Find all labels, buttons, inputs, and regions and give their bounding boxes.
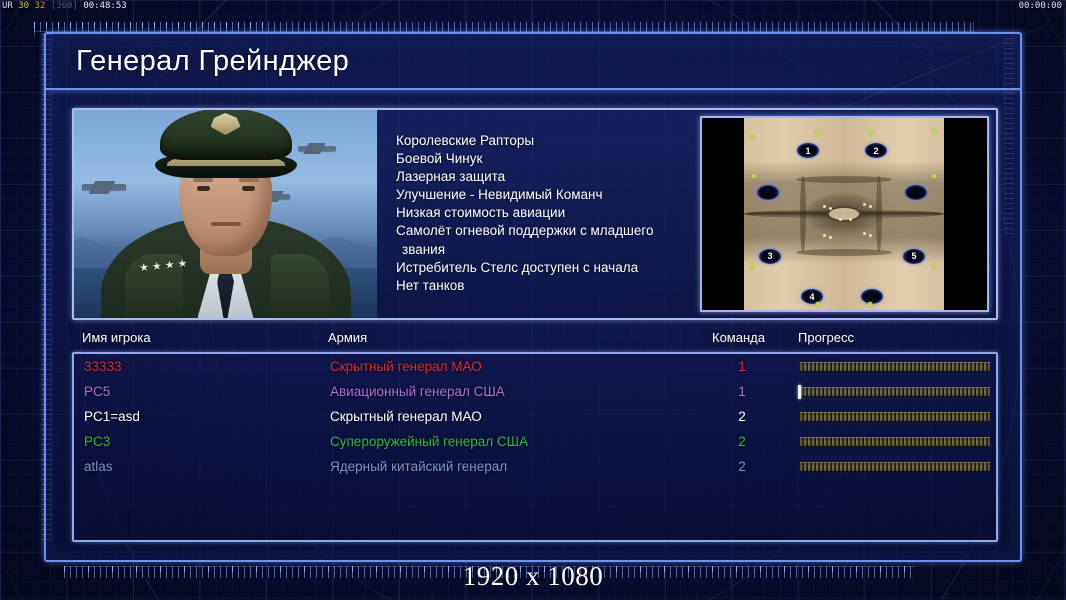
general-ability-4: Низкая стоимость авиации: [396, 204, 700, 222]
frame-corner-tl: [34, 22, 35, 36]
progress-bar: [800, 462, 990, 472]
player-team: 1: [735, 384, 749, 399]
map-preview-image: 12354: [744, 118, 944, 310]
main-panel: Генерал Грейнджер ★★★★ U.S.: [44, 32, 1022, 562]
progress-bar: [800, 362, 990, 372]
map-supply-dock-5: [932, 174, 936, 178]
player-army: Авиационный генерал США: [330, 384, 505, 399]
column-header-progress: Прогресс: [798, 330, 854, 345]
map-tech-building-2: [863, 203, 866, 206]
player-row[interactable]: atlasЯдерный китайский генерал2: [74, 454, 996, 479]
fps-debug-readout: UR 30 32 [360] 00:48:53: [2, 1, 127, 11]
map-supply-dock-7: [932, 264, 936, 268]
general-ability-1: Боевой Чинук: [396, 150, 700, 168]
frame-ruler-top-major: [34, 22, 274, 28]
portrait-eye-right: [242, 186, 255, 191]
map-start-position-5: 5: [903, 249, 925, 264]
portrait-brow-right: [239, 178, 259, 182]
bracket-value: [360]: [51, 1, 78, 11]
map-tech-building-9: [869, 234, 872, 237]
map-tech-building-0: [823, 205, 826, 208]
progress-bar: [800, 387, 990, 397]
portrait-cap: [160, 110, 292, 160]
map-supply-dock-9: [868, 302, 872, 306]
fps-prefix: UR: [2, 1, 13, 11]
map-supply-dock-8: [816, 302, 820, 306]
map-tech-building-3: [869, 205, 872, 208]
resolution-label: 1920 x 1080: [0, 561, 1066, 592]
map-center-feature: [827, 206, 861, 222]
player-army: Ядерный китайский генерал: [330, 459, 507, 474]
general-ability-5: Самолёт огневой поддержки с младшего: [396, 222, 700, 240]
player-name: PC1=asd: [84, 409, 140, 424]
clock-readout: 00:00:00: [1019, 1, 1062, 11]
player-progress: [800, 387, 990, 397]
progress-bar: [800, 437, 990, 447]
map-supply-dock-1: [816, 131, 820, 135]
portrait-cap-eagle-badge: [211, 113, 241, 135]
player-list-table: 33333Скрытный генерал МАО1PC5Авиационный…: [72, 352, 998, 542]
general-ability-2: Лазерная защита: [396, 168, 700, 186]
map-start-position-1: 1: [797, 143, 819, 158]
general-ability-6: звания: [396, 241, 700, 259]
title-bar: Генерал Грейнджер: [46, 34, 1020, 90]
portrait-shoulder-right: [271, 254, 329, 318]
general-ability-list: Королевские РапторыБоевой ЧинукЛазерная …: [377, 110, 700, 318]
general-info-box: ★★★★ U.S. К: [72, 108, 998, 320]
player-team: 2: [735, 409, 749, 424]
portrait-mouth: [211, 222, 241, 226]
player-name: PC5: [84, 384, 110, 399]
portrait-brow-left: [193, 178, 213, 182]
general-ability-0: Королевские Рапторы: [396, 132, 700, 150]
map-start-position-2: 2: [865, 143, 887, 158]
player-progress: [800, 412, 990, 422]
game-lobby-screen: UR 30 32 [360] 00:48:53 00:00:00 Генерал…: [0, 0, 1066, 600]
portrait-eye-left: [197, 186, 210, 191]
session-time: 00:48:53: [83, 1, 126, 11]
player-name: 33333: [84, 359, 122, 374]
map-tech-building-4: [839, 218, 842, 221]
map-start-position-3: [757, 185, 779, 200]
general-ability-7: Истребитель Стелс доступен с начала: [396, 259, 700, 277]
map-supply-dock-2: [868, 131, 872, 135]
map-supply-dock-6: [750, 264, 754, 268]
player-progress: [800, 462, 990, 472]
player-name: atlas: [84, 459, 113, 474]
portrait-aircraft-icon: [298, 146, 336, 151]
player-team: 1: [735, 359, 749, 374]
map-preview[interactable]: 12354: [700, 116, 989, 312]
page-title: Генерал Грейнджер: [76, 45, 349, 78]
player-army: Скрытный генерал МАО: [330, 359, 482, 374]
player-row[interactable]: PC5Авиационный генерал США1: [74, 379, 996, 404]
column-header-army: Армия: [328, 330, 367, 345]
player-team: 2: [735, 459, 749, 474]
player-army: Супероружейный генерал США: [330, 434, 528, 449]
general-ability-8: Нет танков: [396, 277, 700, 295]
column-header-name: Имя игрока: [82, 330, 151, 345]
player-team: 2: [735, 434, 749, 449]
map-tech-building-8: [863, 232, 866, 235]
map-tech-building-5: [849, 218, 852, 221]
map-start-position-8: [861, 289, 883, 304]
fps-value: 30: [18, 1, 29, 11]
player-row[interactable]: PC1=asdСкрытный генерал МАО2: [74, 404, 996, 429]
map-tech-building-6: [823, 234, 826, 237]
player-army: Скрытный генерал МАО: [330, 409, 482, 424]
general-ability-3: Улучшение - Невидимый Команч: [396, 186, 700, 204]
general-portrait: ★★★★ U.S.: [74, 110, 377, 318]
map-supply-dock-3: [932, 129, 936, 133]
player-name: PC3: [84, 434, 110, 449]
frame-value: 32: [35, 1, 46, 11]
frame-ruler-top: [34, 22, 974, 32]
column-header-team: Команда: [712, 330, 765, 345]
progress-bar: [800, 412, 990, 422]
player-row[interactable]: PC3Супероружейный генерал США2: [74, 429, 996, 454]
map-supply-dock-0: [750, 135, 754, 139]
player-progress: [800, 362, 990, 372]
portrait-aircraft-icon: [82, 184, 126, 190]
map-tech-building-1: [829, 207, 832, 210]
player-row[interactable]: 33333Скрытный генерал МАО1: [74, 354, 996, 379]
player-progress: [800, 437, 990, 447]
map-tech-building-7: [829, 236, 832, 239]
progress-cursor: [798, 385, 801, 399]
player-list-header: Имя игрока Армия Команда Прогресс: [72, 330, 998, 352]
map-supply-dock-4: [752, 174, 756, 178]
map-start-position-4: [905, 185, 927, 200]
map-start-position-3: 3: [759, 249, 781, 264]
